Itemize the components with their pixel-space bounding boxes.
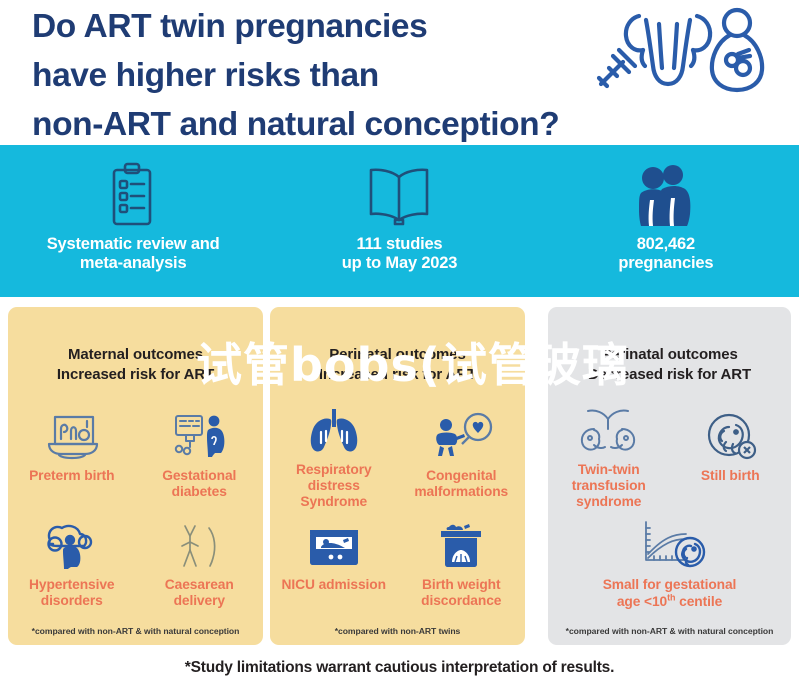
baby-magnifier-heart-icon xyxy=(428,405,494,461)
panel-maternal-note: *compared with non-ART & with natural co… xyxy=(8,626,263,636)
title-line-1: Do ART twin pregnancies xyxy=(32,2,592,51)
stats-band: Systematic review and meta-analysis xyxy=(0,145,799,297)
outcome-congenital-malformations: Congenital malformations xyxy=(398,405,526,510)
panel-perinatal-decreased-title-line2: Decreased risk for ART xyxy=(548,365,791,385)
outcome-label-still-birth-line1: Still birth xyxy=(701,468,760,483)
outcome-label-preterm-birth: Preterm birth xyxy=(29,468,114,484)
stat-label-studies-line1: 111 studies xyxy=(342,235,458,254)
incubator-icon xyxy=(305,514,363,570)
stat-label-pregnancies-line1: 802,462 xyxy=(618,235,713,254)
outcome-label-ttts-line2: transfusion xyxy=(572,478,646,493)
uterus-syringe-icon xyxy=(591,6,781,98)
title-line-3: non-ART and natural conception? xyxy=(32,100,592,149)
panel-maternal-title: Maternal outcomes Increased risk for ART xyxy=(8,345,263,385)
outcome-label-nicu-admission-line1: NICU admission xyxy=(282,577,386,592)
outcome-birth-weight-discordance: Birth weight discordance xyxy=(398,514,526,614)
header: Do ART twin pregnancies have higher risk… xyxy=(0,0,799,145)
outcome-label-gestational-diabetes-line2: diabetes xyxy=(172,484,227,499)
outcome-label-still-birth: Still birth xyxy=(701,468,760,484)
panel-perinatal-increased: Perinatal outcomes Increased risk for AR… xyxy=(270,307,525,645)
outcome-caesarean-delivery: Caesarean delivery xyxy=(136,514,264,614)
outcome-label-ttts-line3: syndrome xyxy=(576,494,641,509)
outcome-label-gestational-diabetes: Gestational diabetes xyxy=(162,468,236,500)
caesarean-scar-icon xyxy=(173,514,225,570)
panel-maternal-title-line1: Maternal outcomes xyxy=(8,345,263,365)
panel-perinatal-increased-title-line2: Increased risk for ART xyxy=(270,365,525,385)
outcome-label-ttts-line1: Twin-twin xyxy=(578,462,640,477)
panel-perinatal-decreased: Perinatal outcomes Decreased risk for AR… xyxy=(548,307,791,645)
stat-label-studies-line2: up to May 2023 xyxy=(342,254,458,273)
outcome-ttts: Twin-twin transfusion syndrome xyxy=(548,405,670,510)
outcome-label-respiratory-distress-line2: Syndrome xyxy=(300,494,367,509)
blood-pressure-pregnant-icon xyxy=(42,514,102,570)
outcome-label-birth-weight-discordance: Birth weight discordance xyxy=(421,577,501,609)
footer-disclaimer: *Study limitations warrant cautious inte… xyxy=(185,659,614,677)
outcome-label-caesarean-delivery-line2: delivery xyxy=(174,593,225,608)
panel-perinatal-decreased-title-line1: Perinatal outcomes xyxy=(548,345,791,365)
outcome-label-preterm-birth-line1: Preterm birth xyxy=(29,468,114,483)
outcome-label-congenital-malformations: Congenital malformations xyxy=(414,468,508,500)
outcome-small-for-gestational-age: Small for gestational age <10th centile xyxy=(548,514,791,614)
outcome-label-sga-line2: age <10th centile xyxy=(617,594,722,609)
panel-maternal-increased: Maternal outcomes Increased risk for ART xyxy=(8,307,263,645)
stat-label-review-line1: Systematic review and xyxy=(47,235,220,254)
infographic-page: Do ART twin pregnancies have higher risk… xyxy=(0,0,799,684)
panel-perinatal-increased-note: *compared with non-ART twins xyxy=(270,626,525,636)
sga-superscript: th xyxy=(667,593,675,603)
outcome-panels: Maternal outcomes Increased risk for ART xyxy=(0,307,799,645)
two-people-icon xyxy=(635,161,697,229)
outcome-label-respiratory-distress-line1: Respiratory distress xyxy=(296,462,372,493)
ultrasound-monitor-icon xyxy=(43,405,101,461)
outcome-respiratory-distress: Respiratory distress Syndrome xyxy=(270,405,398,510)
outcome-label-small-for-gestational-age: Small for gestational age <10th centile xyxy=(603,577,737,611)
stat-item-review: Systematic review and meta-analysis xyxy=(0,145,266,273)
stat-label-review: Systematic review and meta-analysis xyxy=(47,235,220,273)
outcome-label-birth-weight-discordance-line2: discordance xyxy=(421,593,501,608)
stat-label-pregnancies-line2: pregnancies xyxy=(618,254,713,273)
outcome-label-gestational-diabetes-line1: Gestational xyxy=(162,468,236,483)
stat-label-pregnancies: 802,462 pregnancies xyxy=(618,235,713,273)
outcome-label-caesarean-delivery-line1: Caesarean xyxy=(165,577,234,592)
header-icon-group xyxy=(591,6,781,98)
page-title: Do ART twin pregnancies have higher risk… xyxy=(32,2,592,150)
footer: *Study limitations warrant cautious inte… xyxy=(0,651,799,684)
fetus-cross-circle-icon xyxy=(700,405,760,461)
clipboard-checklist-icon xyxy=(107,161,159,229)
outcome-label-hypertensive-disorders-line1: Hypertensive xyxy=(29,577,114,592)
panel-perinatal-decreased-note: *compared with non-ART & with natural co… xyxy=(548,626,791,636)
panel-perinatal-decreased-title: Perinatal outcomes Decreased risk for AR… xyxy=(548,345,791,385)
stat-item-pregnancies: 802,462 pregnancies xyxy=(533,145,799,273)
open-book-icon xyxy=(364,161,434,229)
stat-item-studies: 111 studies up to May 2023 xyxy=(266,145,532,273)
outcome-label-caesarean-delivery: Caesarean delivery xyxy=(165,577,234,609)
outcome-label-ttts: Twin-twin transfusion syndrome xyxy=(572,462,646,510)
outcome-label-congenital-malformations-line2: malformations xyxy=(414,484,508,499)
panel-maternal-title-line2: Increased risk for ART xyxy=(8,365,263,385)
glucose-test-pregnant-icon xyxy=(170,405,228,461)
outcome-nicu-admission: NICU admission xyxy=(270,514,398,614)
outcome-gestational-diabetes: Gestational diabetes xyxy=(136,405,264,510)
growth-chart-fetus-icon xyxy=(624,514,716,570)
outcome-hypertensive-disorders: Hypertensive disorders xyxy=(8,514,136,614)
stat-label-studies: 111 studies up to May 2023 xyxy=(342,235,458,273)
panel-perinatal-increased-title: Perinatal outcomes Increased risk for AR… xyxy=(270,345,525,385)
outcome-label-congenital-malformations-line1: Congenital xyxy=(426,468,496,483)
outcome-label-birth-weight-discordance-line1: Birth weight xyxy=(422,577,501,592)
outcome-label-respiratory-distress: Respiratory distress Syndrome xyxy=(274,462,394,510)
lungs-icon xyxy=(304,405,364,455)
stat-label-review-line2: meta-analysis xyxy=(47,254,220,273)
twin-fetuses-placenta-icon xyxy=(572,405,646,455)
outcome-label-nicu-admission: NICU admission xyxy=(282,577,386,593)
outcome-preterm-birth: Preterm birth xyxy=(8,405,136,510)
baby-scale-icon xyxy=(433,514,489,570)
outcome-label-sga-line1: Small for gestational xyxy=(603,577,737,592)
outcome-still-birth: Still birth xyxy=(670,405,792,510)
outcome-label-hypertensive-disorders-line2: disorders xyxy=(41,593,103,608)
title-line-2: have higher risks than xyxy=(32,51,592,100)
panel-perinatal-increased-title-line1: Perinatal outcomes xyxy=(270,345,525,365)
outcome-label-hypertensive-disorders: Hypertensive disorders xyxy=(29,577,114,609)
